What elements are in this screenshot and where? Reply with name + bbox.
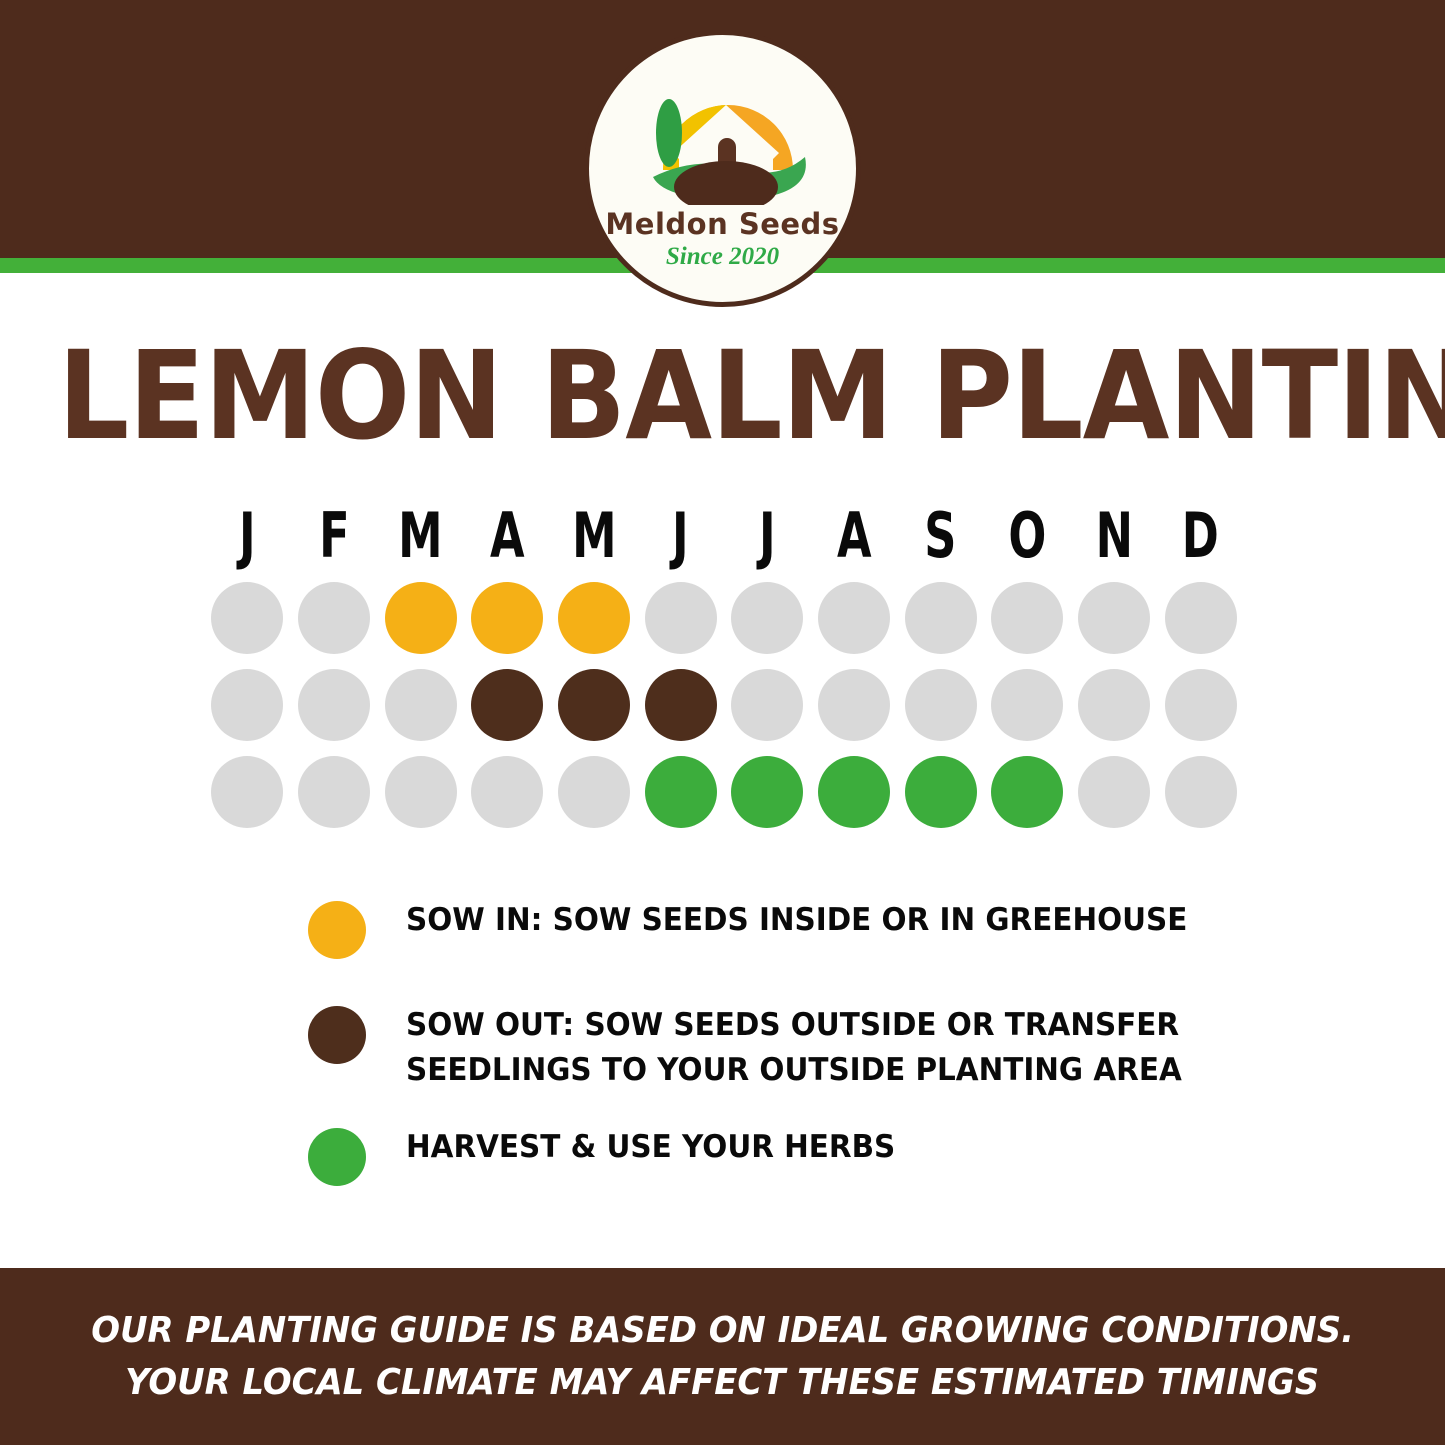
legend-item-harvest: HARVEST & USE YOUR HERBS bbox=[308, 1125, 1308, 1186]
planting-guide-page: Meldon Seeds Since 2020 LEMON BALM PLANT… bbox=[0, 0, 1445, 1445]
calendar-cell-sow-in-J6 bbox=[724, 582, 811, 654]
inactive-dot bbox=[298, 756, 370, 828]
harvest-active-dot bbox=[731, 756, 803, 828]
planting-calendar: JFMAMJJASOND bbox=[204, 498, 1244, 835]
calendar-cell-sow-in-A7 bbox=[811, 582, 898, 654]
legend-dot-sow-out bbox=[308, 1006, 366, 1064]
harvest-active-dot bbox=[818, 756, 890, 828]
inactive-dot bbox=[818, 669, 890, 741]
legend-label-sow-in: SOW IN: SOW SEEDS INSIDE OR IN GREEHOUSE bbox=[406, 898, 1187, 943]
sow-out-active-dot bbox=[645, 669, 717, 741]
month-label-11: D bbox=[1170, 505, 1232, 567]
legend-label-sow-out: SOW OUT: SOW SEEDS OUTSIDE OR TRANSFERSE… bbox=[406, 1003, 1182, 1093]
harvest-active-dot bbox=[905, 756, 977, 828]
legend-label-sow-in-line-1: SOW IN: SOW SEEDS INSIDE OR IN GREEHOUSE bbox=[406, 898, 1187, 943]
calendar-cell-harvest-A3 bbox=[464, 756, 551, 828]
calendar-cell-harvest-M2 bbox=[377, 756, 464, 828]
sow-in-active-dot bbox=[471, 582, 543, 654]
calendar-cell-sow-in-A3 bbox=[464, 582, 551, 654]
page-title: LEMON BALM PLANTING GUIDE bbox=[58, 332, 1387, 460]
brand-logo: Meldon Seeds Since 2020 bbox=[584, 30, 861, 307]
harvest-active-dot bbox=[645, 756, 717, 828]
inactive-dot bbox=[211, 756, 283, 828]
inactive-dot bbox=[1078, 582, 1150, 654]
inactive-dot bbox=[211, 582, 283, 654]
legend-item-sow-in: SOW IN: SOW SEEDS INSIDE OR IN GREEHOUSE bbox=[308, 898, 1308, 959]
month-label-4: M bbox=[563, 505, 625, 567]
month-label-9: O bbox=[996, 505, 1058, 567]
calendar-cell-sow-out-D11 bbox=[1157, 669, 1244, 741]
month-label-6: J bbox=[736, 505, 798, 567]
legend: SOW IN: SOW SEEDS INSIDE OR IN GREEHOUSE… bbox=[308, 898, 1308, 1230]
inactive-dot bbox=[1165, 669, 1237, 741]
calendar-cell-sow-out-J6 bbox=[724, 669, 811, 741]
footer-line-1: OUR PLANTING GUIDE IS BASED ON IDEAL GRO… bbox=[91, 1305, 1354, 1357]
calendar-cell-sow-out-A3 bbox=[464, 669, 551, 741]
legend-label-harvest-line-1: HARVEST & USE YOUR HERBS bbox=[406, 1125, 895, 1170]
calendar-row-harvest bbox=[204, 748, 1244, 835]
sow-in-active-dot bbox=[558, 582, 630, 654]
calendar-cell-sow-in-D11 bbox=[1157, 582, 1244, 654]
inactive-dot bbox=[645, 582, 717, 654]
calendar-cell-sow-out-O9 bbox=[984, 669, 1071, 741]
inactive-dot bbox=[1165, 582, 1237, 654]
calendar-cell-sow-in-M2 bbox=[377, 582, 464, 654]
calendar-row-sow-in bbox=[204, 574, 1244, 661]
month-label-10: N bbox=[1083, 505, 1145, 567]
calendar-cell-harvest-O9 bbox=[984, 756, 1071, 828]
calendar-cell-sow-in-O9 bbox=[984, 582, 1071, 654]
month-label-2: M bbox=[389, 505, 451, 567]
calendar-cell-harvest-D11 bbox=[1157, 756, 1244, 828]
calendar-cell-sow-out-J5 bbox=[637, 669, 724, 741]
farmhouse-tree-soil-icon bbox=[623, 55, 823, 205]
inactive-dot bbox=[731, 669, 803, 741]
calendar-cell-harvest-F1 bbox=[291, 756, 378, 828]
legend-label-sow-out-line-1: SOW OUT: SOW SEEDS OUTSIDE OR TRANSFER bbox=[406, 1003, 1182, 1048]
legend-item-sow-out: SOW OUT: SOW SEEDS OUTSIDE OR TRANSFERSE… bbox=[308, 1003, 1308, 1093]
inactive-dot bbox=[1165, 756, 1237, 828]
month-header-row: JFMAMJJASOND bbox=[204, 498, 1244, 574]
month-label-8: S bbox=[910, 505, 972, 567]
calendar-cell-sow-in-J0 bbox=[204, 582, 291, 654]
inactive-dot bbox=[731, 582, 803, 654]
sow-out-active-dot bbox=[558, 669, 630, 741]
inactive-dot bbox=[298, 582, 370, 654]
calendar-cell-sow-out-A7 bbox=[811, 669, 898, 741]
calendar-row-sow-out bbox=[204, 661, 1244, 748]
sow-in-active-dot bbox=[385, 582, 457, 654]
calendar-cell-sow-out-F1 bbox=[291, 669, 378, 741]
calendar-cell-sow-in-S8 bbox=[897, 582, 984, 654]
calendar-cell-sow-out-S8 bbox=[897, 669, 984, 741]
footer-bar: OUR PLANTING GUIDE IS BASED ON IDEAL GRO… bbox=[0, 1268, 1445, 1445]
inactive-dot bbox=[905, 582, 977, 654]
calendar-cell-sow-out-N10 bbox=[1071, 669, 1158, 741]
legend-dot-harvest bbox=[308, 1128, 366, 1186]
inactive-dot bbox=[905, 669, 977, 741]
brand-name: Meldon Seeds bbox=[605, 207, 839, 241]
inactive-dot bbox=[991, 582, 1063, 654]
inactive-dot bbox=[211, 669, 283, 741]
calendar-cell-sow-out-M2 bbox=[377, 669, 464, 741]
inactive-dot bbox=[298, 669, 370, 741]
month-label-5: J bbox=[649, 505, 711, 567]
calendar-cell-sow-in-N10 bbox=[1071, 582, 1158, 654]
inactive-dot bbox=[1078, 669, 1150, 741]
inactive-dot bbox=[991, 669, 1063, 741]
legend-label-harvest: HARVEST & USE YOUR HERBS bbox=[406, 1125, 895, 1170]
calendar-cell-sow-in-J5 bbox=[637, 582, 724, 654]
inactive-dot bbox=[385, 669, 457, 741]
inactive-dot bbox=[385, 756, 457, 828]
legend-dot-sow-in bbox=[308, 901, 366, 959]
harvest-active-dot bbox=[991, 756, 1063, 828]
sow-out-active-dot bbox=[471, 669, 543, 741]
calendar-cell-sow-out-M4 bbox=[551, 669, 638, 741]
month-label-0: J bbox=[216, 505, 278, 567]
month-label-3: A bbox=[476, 505, 538, 567]
calendar-cell-harvest-N10 bbox=[1071, 756, 1158, 828]
month-label-1: F bbox=[303, 505, 365, 567]
calendar-cell-harvest-J5 bbox=[637, 756, 724, 828]
inactive-dot bbox=[558, 756, 630, 828]
calendar-cell-sow-in-F1 bbox=[291, 582, 378, 654]
calendar-cell-harvest-J6 bbox=[724, 756, 811, 828]
calendar-cell-harvest-M4 bbox=[551, 756, 638, 828]
calendar-cell-harvest-S8 bbox=[897, 756, 984, 828]
inactive-dot bbox=[471, 756, 543, 828]
calendar-cell-sow-in-M4 bbox=[551, 582, 638, 654]
calendar-cell-sow-out-J0 bbox=[204, 669, 291, 741]
footer-line-2: YOUR LOCAL CLIMATE MAY AFFECT THESE ESTI… bbox=[125, 1357, 1319, 1409]
month-label-7: A bbox=[823, 505, 885, 567]
brand-tagline: Since 2020 bbox=[666, 243, 779, 271]
calendar-cell-harvest-J0 bbox=[204, 756, 291, 828]
inactive-dot bbox=[818, 582, 890, 654]
inactive-dot bbox=[1078, 756, 1150, 828]
calendar-cell-harvest-A7 bbox=[811, 756, 898, 828]
legend-label-sow-out-line-2: SEEDLINGS TO YOUR OUTSIDE PLANTING AREA bbox=[406, 1048, 1182, 1093]
